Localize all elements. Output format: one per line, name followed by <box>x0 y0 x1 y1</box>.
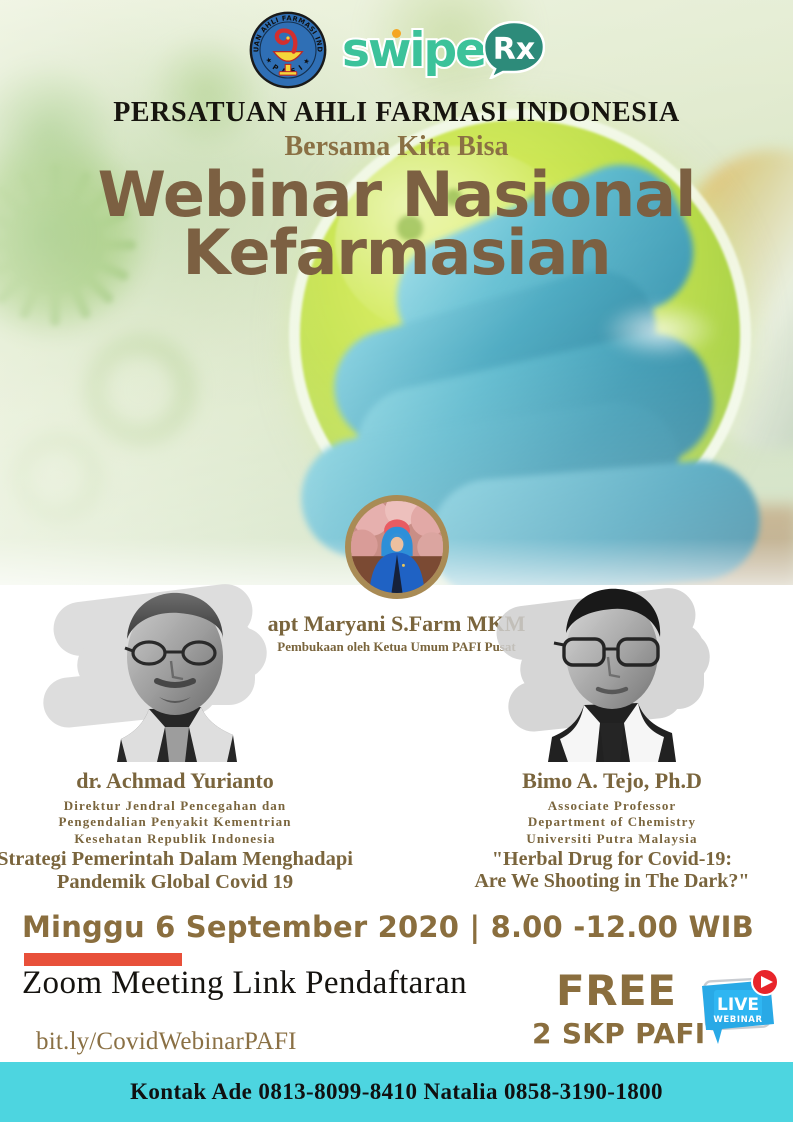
speaker-right-affiliation: Associate Professor Department of Chemis… <box>432 798 792 847</box>
topic-line: Strategi Pemerintah Dalam Menghadapi <box>0 848 355 871</box>
speaker-right-portrait <box>524 577 699 762</box>
registration-link[interactable]: bit.ly/CovidWebinarPAFI <box>36 1028 297 1056</box>
credits-skp: 2 SKP PAFI <box>532 1020 706 1048</box>
swiperx-logo: swipe Rx <box>342 21 545 79</box>
event-datetime: Minggu 6 September 2020 | 8.00 -12.00 WI… <box>22 910 754 944</box>
registration-label: Zoom Meeting Link Pendaftaran <box>22 965 467 1002</box>
topic-line: Are We Shooting in The Dark?" <box>432 870 792 892</box>
svg-text:Rx: Rx <box>493 32 535 67</box>
live-badge-line1: LIVE <box>717 995 759 1015</box>
swiperx-wordmark-text: swipe <box>342 23 485 78</box>
speaker-right-photo <box>462 575 762 765</box>
topic-line: Pandemik Global Covid 19 <box>0 871 355 894</box>
topic-line: "Herbal Drug for Covid-19: <box>432 848 792 870</box>
affiliation-line: Kesehatan Republik Indonesia <box>0 831 355 847</box>
pafi-logo-icon: PERSATUAN AHLI FARMASI INDONESIA ★ P A F… <box>248 10 328 90</box>
swiperx-rx-bubble-icon: Rx <box>483 21 545 79</box>
swiperx-dot-icon <box>392 29 401 38</box>
speaker-left-portrait <box>87 577 262 762</box>
speaker-left-topic: Strategi Pemerintah Dalam Menghadapi Pan… <box>0 848 355 894</box>
affiliation-line: Associate Professor <box>432 798 792 814</box>
speaker-left-photo <box>25 575 325 765</box>
speaker-right-name: Bimo A. Tejo, Ph.D <box>432 769 792 793</box>
webinar-poster: PERSATUAN AHLI FARMASI INDONESIA ★ P A F… <box>0 0 793 1122</box>
speaker-left-affiliation: Direktur Jendral Pencegahan dan Pengenda… <box>0 798 355 847</box>
organization-name: PERSATUAN AHLI FARMASI INDONESIA <box>0 98 793 127</box>
page-title: Webinar Nasional Kefarmasian <box>0 166 793 284</box>
affiliation-line: Pengendalian Penyakit Kementrian <box>0 814 355 830</box>
contact-text: Kontak Ade 0813-8099-8410 Natalia 0858-3… <box>130 1079 663 1105</box>
live-webinar-badge-icon: LIVE WEBINAR <box>692 968 784 1052</box>
speaker-right: Bimo A. Tejo, Ph.D Associate Professor D… <box>432 575 792 893</box>
speaker-left: dr. Achmad Yurianto Direktur Jendral Pen… <box>0 575 355 894</box>
swiperx-wordmark: swipe <box>342 27 485 74</box>
affiliation-line: Universiti Putra Malaysia <box>432 831 792 847</box>
speaker-center-portrait <box>351 501 443 593</box>
speaker-left-name: dr. Achmad Yurianto <box>0 769 355 793</box>
headline-block: PERSATUAN AHLI FARMASI INDONESIA Bersama… <box>0 98 793 283</box>
affiliation-line: Direktur Jendral Pencegahan dan <box>0 798 355 814</box>
price-free: FREE <box>556 970 676 1012</box>
title-line-2: Kefarmasian <box>0 224 793 283</box>
footer-contact-bar: Kontak Ade 0813-8099-8410 Natalia 0858-3… <box>0 1062 793 1122</box>
live-badge-line2: WEBINAR <box>713 1015 762 1025</box>
logo-row: PERSATUAN AHLI FARMASI INDONESIA ★ P A F… <box>0 4 793 96</box>
affiliation-line: Department of Chemistry <box>432 814 792 830</box>
speaker-right-topic: "Herbal Drug for Covid-19: Are We Shooti… <box>432 848 792 893</box>
